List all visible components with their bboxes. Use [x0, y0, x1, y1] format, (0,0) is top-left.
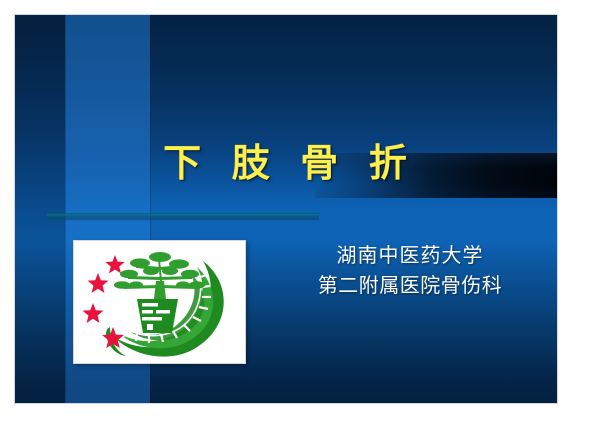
- subtitle-line-2: 第二附属医院骨伤科: [270, 271, 550, 301]
- slide-title: 下 肢 骨 折: [15, 141, 557, 187]
- institution-logo: [73, 240, 246, 364]
- background-column-edge-left: [65, 15, 66, 403]
- logo-pot: [137, 299, 178, 333]
- slide-page: 下 肢 骨 折: [0, 0, 600, 424]
- title-accent-rule-shadow: [47, 218, 319, 220]
- subtitle-line-1: 湖南中医药大学: [270, 241, 550, 271]
- background-band-left-dark: [15, 15, 65, 403]
- logo-artwork: [74, 241, 245, 363]
- presentation-slide: 下 肢 骨 折: [15, 15, 557, 403]
- slide-subtitle: 湖南中医药大学 第二附属医院骨伤科: [270, 241, 550, 301]
